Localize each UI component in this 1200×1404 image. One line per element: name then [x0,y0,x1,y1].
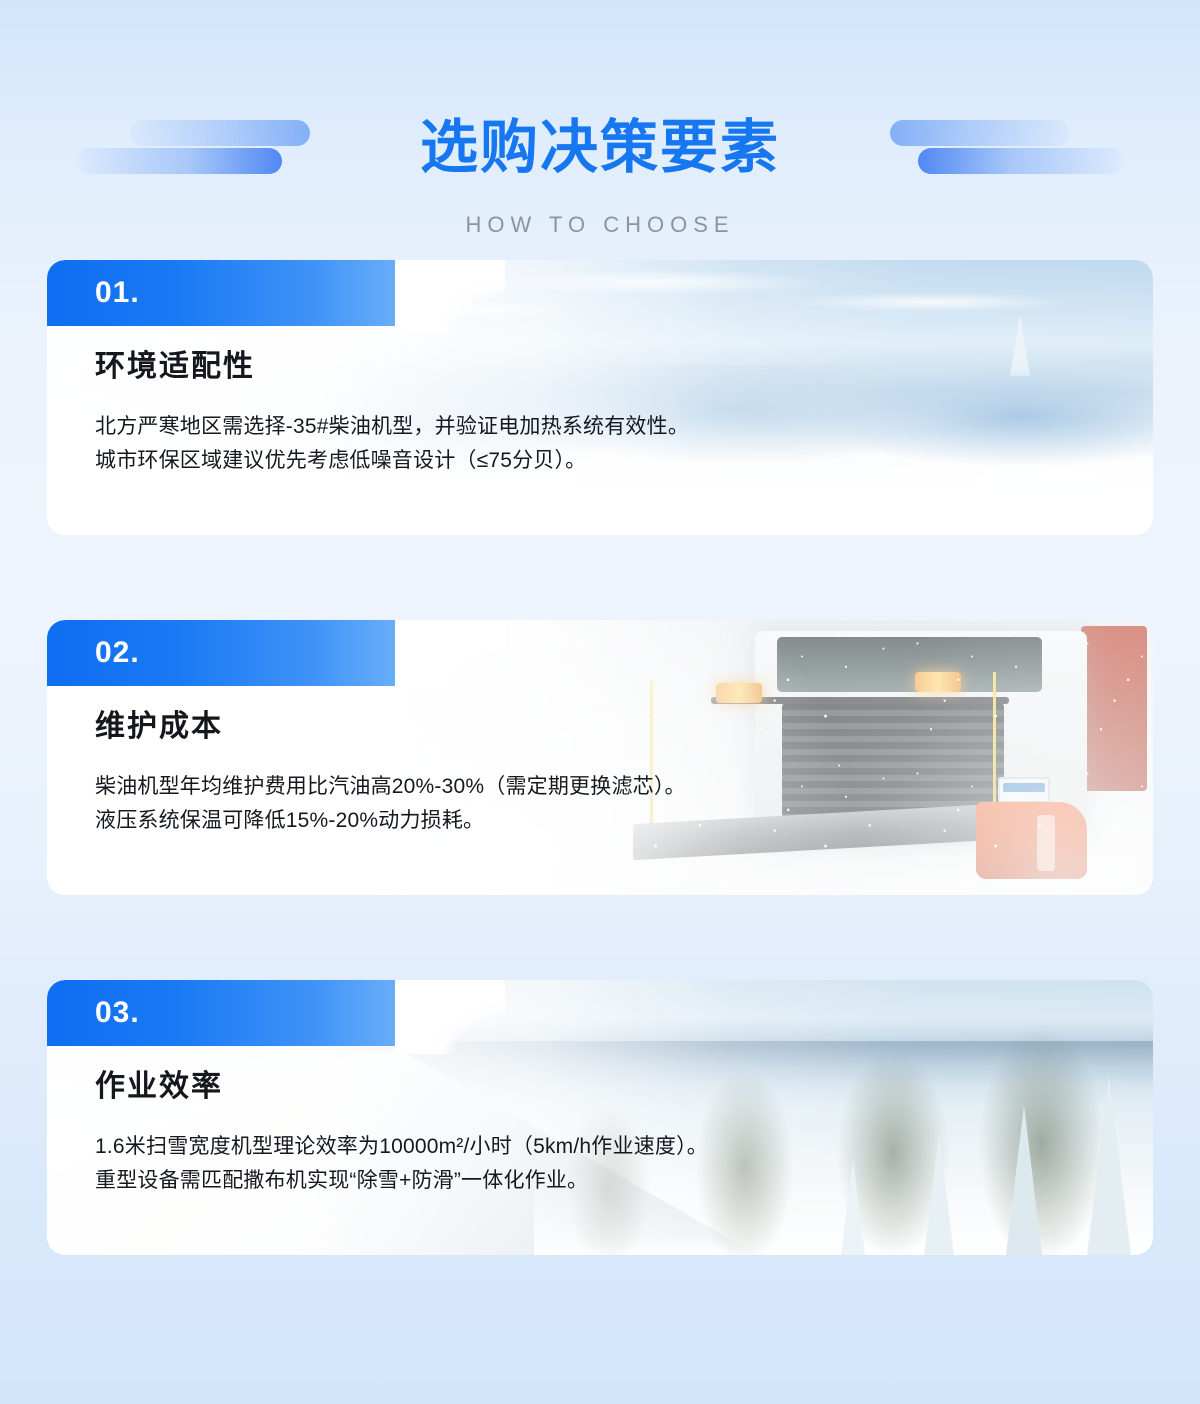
cards-container: 01. 环境适配性 北方严寒地区需选择-35#柴油机型，并验证电加热系统有效性。… [0,260,1200,1255]
card-title: 维护成本 [95,712,686,742]
page-header: 选购决策要素 HOW TO CHOOSE [0,0,1200,260]
deco-bar-left-bottom [76,148,282,174]
card-text-line: 北方严寒地区需选择-35#柴油机型，并验证电加热系统有效性。 [95,410,689,444]
decision-card-01[interactable]: 01. 环境适配性 北方严寒地区需选择-35#柴油机型，并验证电加热系统有效性。… [47,260,1153,535]
title-row: 选购决策要素 [100,106,1100,190]
card-02-body: 维护成本 柴油机型年均维护费用比汽油高20%-30%（需定期更换滤芯）。 液压系… [95,712,686,838]
card-03-body: 作业效率 1.6米扫雪宽度机型理论效率为10000m²/小时（5km/h作业速度… [95,1072,708,1198]
card-text-line: 重型设备需匹配撒布机实现“除雪+防滑”一体化作业。 [95,1164,708,1198]
card-01-badge: 01. [47,260,467,326]
decorative-lines-right [890,106,1110,190]
card-title: 作业效率 [95,1072,708,1102]
card-03-badge: 03. [47,980,467,1046]
card-number: 02. [95,636,140,670]
card-text-line: 柴油机型年均维护费用比汽油高20%-30%（需定期更换滤芯）。 [95,770,686,804]
deco-bar-left-top [130,120,310,146]
decorative-lines-left [90,106,310,190]
card-text-line: 城市环保区域建议优先考虑低噪音设计（≤75分贝）。 [95,444,689,478]
deco-bar-right-bottom [918,148,1124,174]
decision-card-03[interactable]: 03. 作业效率 1.6米扫雪宽度机型理论效率为10000m²/小时（5km/h… [47,980,1153,1255]
card-01-body: 环境适配性 北方严寒地区需选择-35#柴油机型，并验证电加热系统有效性。 城市环… [95,352,689,478]
card-02-badge: 02. [47,620,467,686]
page-subtitle: HOW TO CHOOSE [465,212,734,238]
card-text-line: 1.6米扫雪宽度机型理论效率为10000m²/小时（5km/h作业速度）。 [95,1130,708,1164]
card-number: 03. [95,996,140,1030]
card-text-line: 液压系统保温可降低15%-20%动力损耗。 [95,804,686,838]
page-title: 选购决策要素 [402,119,798,177]
card-title: 环境适配性 [95,352,689,382]
deco-bar-right-top [890,120,1070,146]
card-number: 01. [95,276,140,310]
decision-card-02[interactable]: 02. 维护成本 柴油机型年均维护费用比汽油高20%-30%（需定期更换滤芯）。… [47,620,1153,895]
